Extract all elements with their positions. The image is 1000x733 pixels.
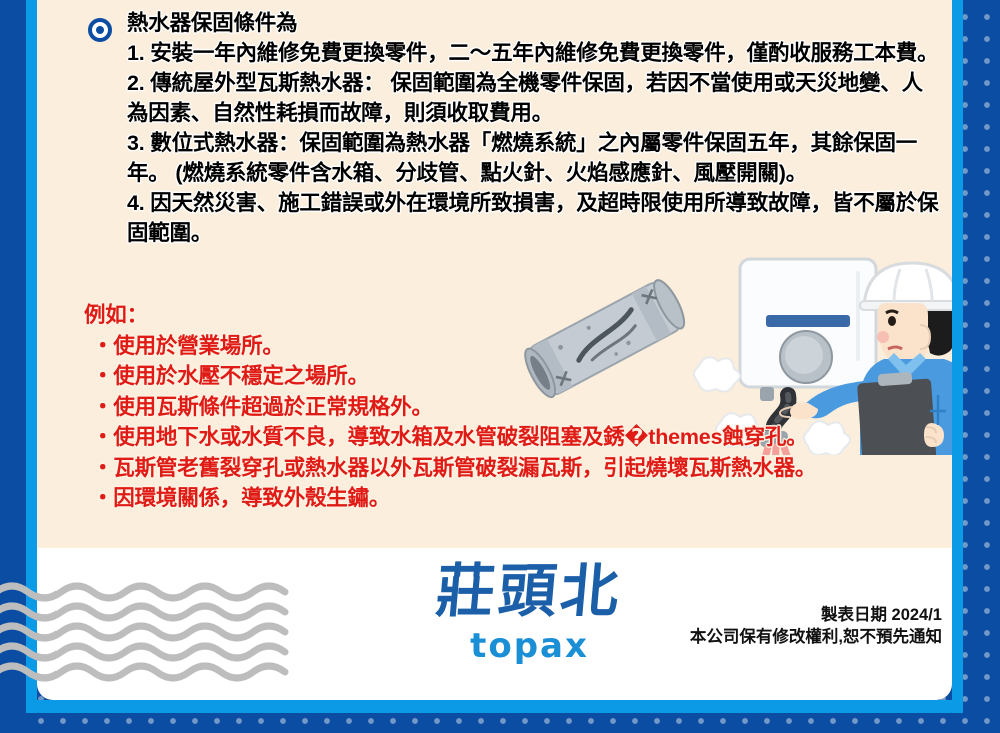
term-item-1: 1. 安裝一年內維修免費更換零件，二～五年內維修免費更換零件，僅酌收服務工本費。 (82, 38, 942, 68)
footer-date: 製表日期 2024/1 (597, 604, 942, 626)
example-item: ・使用於營業場所。 (82, 331, 952, 362)
term-item-3: 3. 數位式熱水器：保固範圍為熱水器「燃燒系統」之內屬零件保固五年，其餘保固一年… (82, 128, 942, 188)
footer-disclaimer: 本公司保有修改權利,恕不預先通知 (597, 626, 942, 648)
example-item: ・瓦斯管老舊裂穿孔或熱水器以外瓦斯管破裂漏瓦斯，引起燒壞瓦斯熱水器。 (82, 453, 952, 484)
poster-root: 熱水器保固條件為 1. 安裝一年內維修免費更換零件，二～五年內維修免費更換零件，… (0, 0, 1000, 733)
water-waves-overflow-icon (0, 580, 56, 690)
example-item: ・使用地下水或水質不良，導致水箱及水管破裂阻塞及銹�themes蝕穿孔。 (82, 422, 952, 453)
terms-block: 熱水器保固條件為 1. 安裝一年內維修免費更換零件，二～五年內維修免費更換零件，… (82, 8, 942, 248)
content-card: 熱水器保固條件為 1. 安裝一年內維修免費更換零件，二～五年內維修免費更換零件，… (37, 0, 952, 700)
heading: 熱水器保固條件為 (82, 8, 942, 38)
radio-target-icon (88, 18, 112, 42)
example-item: ・使用瓦斯條件超過於正常規格外。 (82, 392, 952, 423)
bottom-cyan-accent (26, 700, 963, 713)
term-item-4: 4. 因天然災害、施工錯誤或外在環境所致損害，及超時限使用所導致故障，皆不屬於保… (82, 188, 942, 248)
examples-title: 例如： (82, 300, 952, 331)
examples-block: 例如： ・使用於營業場所。 ・使用於水壓不穩定之場所。 ・使用瓦斯條件超過於正常… (82, 300, 952, 514)
example-item: ・因環境關係，導致外殼生鏽。 (82, 483, 952, 514)
footer-notes: 製表日期 2024/1 本公司保有修改權利,恕不預先通知 (597, 604, 942, 648)
example-item: ・使用於水壓不穩定之場所。 (82, 361, 952, 392)
term-item-2: 2. 傳統屋外型瓦斯熱水器： 保固範圍為全機零件保固，若因不當使用或天災地變、人… (82, 68, 942, 128)
water-waves-icon (37, 580, 317, 690)
right-cyan-accent (952, 0, 963, 713)
